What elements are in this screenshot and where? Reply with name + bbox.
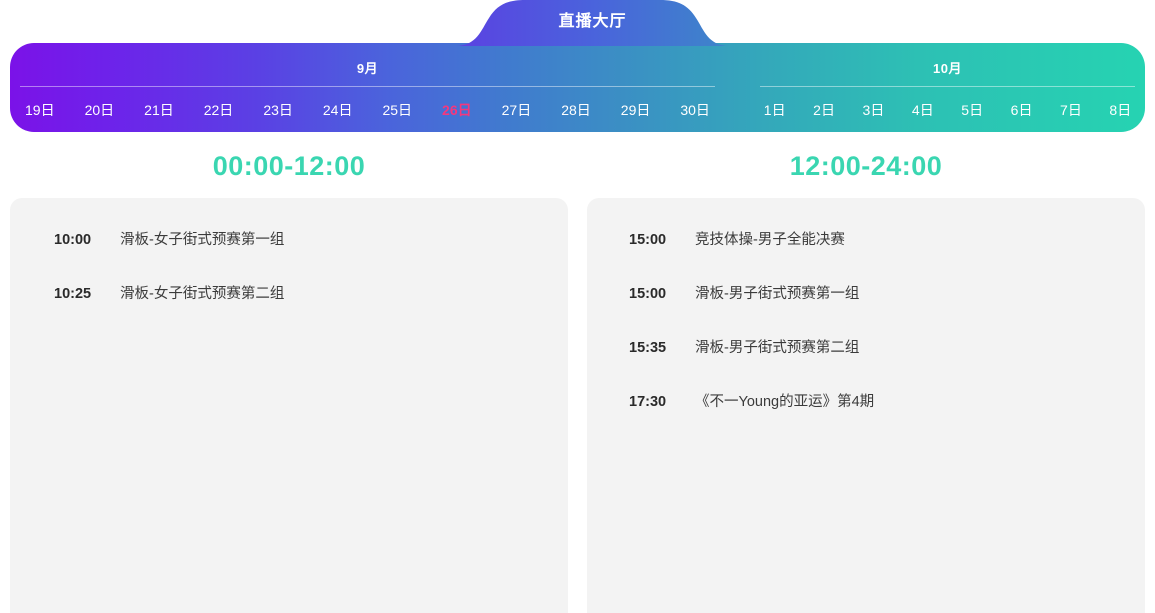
day-cell-sep-27[interactable]: 27日 [487,100,547,120]
day-cell-sep-21[interactable]: 21日 [129,100,189,120]
schedule-list-morning: 10:00 滑板-女子街式预赛第一组 10:25 滑板-女子街式预赛第二组 [10,198,568,336]
month-block-september: 9月 [10,43,725,87]
day-cell-oct-8[interactable]: 8日 [1096,100,1145,120]
list-item[interactable]: 15:00 滑板-男子街式预赛第一组 [587,282,1145,336]
event-time: 15:00 [629,232,677,248]
month-label-september: 9月 [10,58,725,77]
day-cell-sep-22[interactable]: 22日 [189,100,249,120]
day-cell-sep-30[interactable]: 30日 [665,100,725,120]
day-cell-sep-19[interactable]: 19日 [10,100,70,120]
day-cell-oct-1[interactable]: 1日 [750,100,799,120]
event-name: 滑板-女子街式预赛第二组 [120,282,284,303]
live-hall-tab[interactable]: 直播大厅 [455,0,730,46]
header-region: 直播大厅 9月 10月 19日 20日 21日 22日 23日 24日 25日 … [0,0,1155,135]
event-name: 竞技体操-男子全能决赛 [695,228,845,249]
day-cell-sep-24[interactable]: 24日 [308,100,368,120]
event-name: 滑板-男子街式预赛第一组 [695,282,859,303]
event-time: 15:00 [629,286,677,302]
list-item[interactable]: 17:30 《不一Young的亚运》第4期 [587,390,1145,444]
days-row: 19日 20日 21日 22日 23日 24日 25日 26日 27日 28日 … [10,87,1145,132]
days-group-september: 19日 20日 21日 22日 23日 24日 25日 26日 27日 28日 … [10,87,725,132]
month-row: 9月 10月 [10,43,1145,87]
section-title-morning: 00:00-12:00 [10,143,568,193]
day-cell-oct-2[interactable]: 2日 [799,100,848,120]
schedule-panels: 10:00 滑板-女子街式预赛第一组 10:25 滑板-女子街式预赛第二组 15… [0,198,1155,613]
section-titles: 00:00-12:00 12:00-24:00 [0,143,1155,193]
day-cell-oct-7[interactable]: 7日 [1046,100,1095,120]
event-name: 滑板-男子街式预赛第二组 [695,336,859,357]
list-item[interactable]: 10:25 滑板-女子街式预赛第二组 [10,282,568,336]
list-item[interactable]: 15:35 滑板-男子街式预赛第二组 [587,336,1145,390]
list-item[interactable]: 15:00 竞技体操-男子全能决赛 [587,228,1145,282]
section-title-afternoon: 12:00-24:00 [587,143,1145,193]
day-cell-oct-4[interactable]: 4日 [898,100,947,120]
live-hall-tab-label: 直播大厅 [455,0,730,46]
schedule-list-afternoon: 15:00 竞技体操-男子全能决赛 15:00 滑板-男子街式预赛第一组 15:… [587,198,1145,444]
event-time: 10:25 [54,286,102,302]
day-cell-sep-25[interactable]: 25日 [367,100,427,120]
event-time: 17:30 [629,394,677,410]
day-cell-oct-5[interactable]: 5日 [948,100,997,120]
day-cell-oct-3[interactable]: 3日 [849,100,898,120]
month-label-october: 10月 [750,58,1145,77]
event-name: 《不一Young的亚运》第4期 [695,390,874,411]
schedule-panel-afternoon: 15:00 竞技体操-男子全能决赛 15:00 滑板-男子街式预赛第一组 15:… [587,198,1145,613]
event-name: 滑板-女子街式预赛第一组 [120,228,284,249]
event-time: 10:00 [54,232,102,248]
month-block-october: 10月 [750,43,1145,87]
day-cell-sep-29[interactable]: 29日 [606,100,666,120]
day-cell-oct-6[interactable]: 6日 [997,100,1046,120]
schedule-panel-morning: 10:00 滑板-女子街式预赛第一组 10:25 滑板-女子街式预赛第二组 [10,198,568,613]
day-cell-sep-23[interactable]: 23日 [248,100,308,120]
day-cell-sep-26[interactable]: 26日 [427,100,487,120]
list-item[interactable]: 10:00 滑板-女子街式预赛第一组 [10,228,568,282]
day-cell-sep-28[interactable]: 28日 [546,100,606,120]
days-group-october: 1日 2日 3日 4日 5日 6日 7日 8日 [750,87,1145,132]
date-selector-bar[interactable]: 9月 10月 19日 20日 21日 22日 23日 24日 25日 26日 2… [10,43,1145,132]
day-cell-sep-20[interactable]: 20日 [70,100,130,120]
event-time: 15:35 [629,340,677,356]
